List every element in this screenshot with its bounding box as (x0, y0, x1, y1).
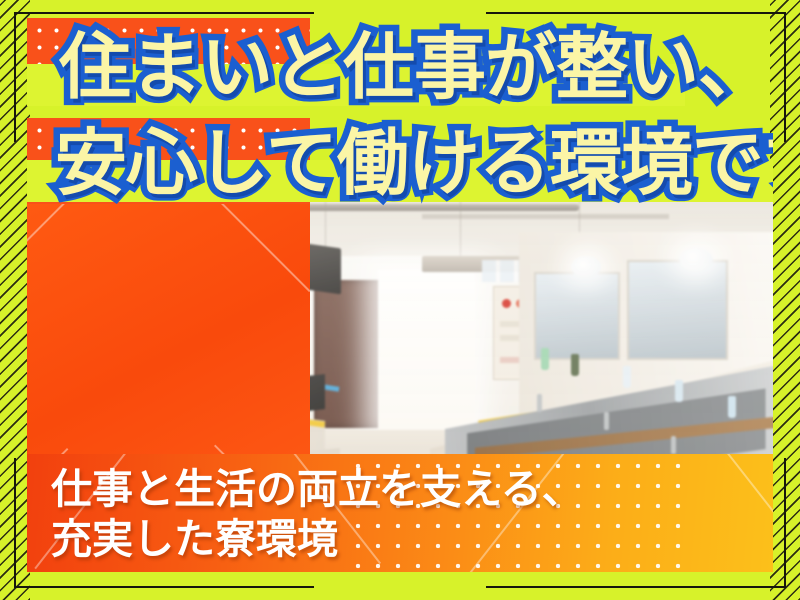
hatch-pattern-right (770, 0, 800, 600)
banner-text-block: 仕事と生活の両立を支える、 充実した寮環境 (51, 464, 583, 564)
banner-line-2: 充実した寮環境 (51, 514, 583, 564)
photo-toiletry-bottle (728, 396, 736, 418)
poster-canvas: 住まいと仕事が整い、 安心して働ける環境です 仕事と生活の両立を支える、 充実し… (0, 0, 800, 600)
photo-mirror (534, 272, 620, 360)
bottom-banner: 仕事と生活の両立を支える、 充実した寮環境 (27, 454, 773, 572)
photo-toiletry-bottle (571, 354, 579, 376)
headline-line-2-row: 安心して働ける環境です (27, 114, 773, 210)
photo-tap (671, 436, 676, 454)
photo-mirror (627, 260, 728, 360)
photo-tap (537, 394, 542, 412)
photo-door-light (378, 270, 475, 430)
banner-line-1: 仕事と生活の両立を支える、 (51, 464, 583, 514)
photo-toiletry-bottle (675, 380, 683, 402)
photo-toiletry-bottle (623, 366, 631, 388)
headline: 住まいと仕事が整い、 安心して働ける環境です (27, 18, 773, 210)
hatch-pattern-left (0, 0, 30, 600)
photo-tap (604, 412, 609, 430)
headline-line-2: 安心して働ける環境です (55, 116, 773, 210)
headline-line-1-row: 住まいと仕事が整い、 (27, 18, 773, 114)
headline-line-1: 住まいと仕事が整い、 (59, 20, 769, 114)
photo-toiletry-bottle (541, 348, 549, 370)
content-stage: 住まいと仕事が整い、 安心して働ける環境です 仕事と生活の両立を支える、 充実し… (27, 18, 773, 572)
